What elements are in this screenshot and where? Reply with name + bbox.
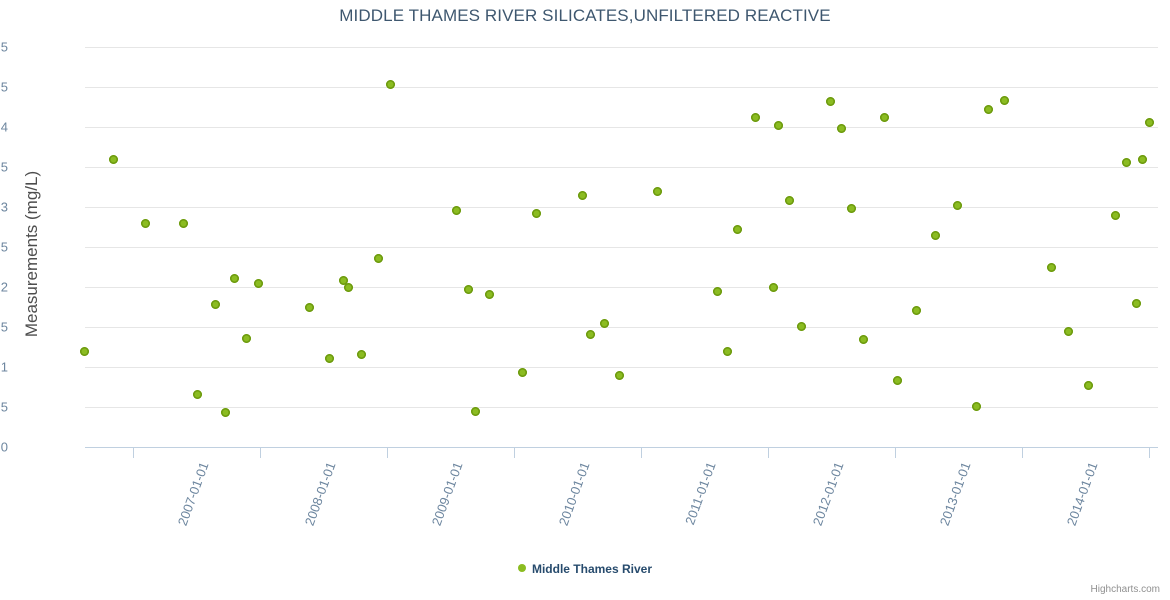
y-tick-label: 4 — [0, 120, 8, 135]
scatter-point[interactable] — [972, 402, 981, 411]
x-tick-mark — [768, 448, 769, 458]
scatter-point[interactable] — [984, 105, 993, 114]
y-tick-label: 2 — [0, 280, 8, 295]
scatter-point[interactable] — [374, 254, 383, 263]
highcharts-scatter-chart: MIDDLE THAMES RIVER SILICATES,UNFILTERED… — [0, 0, 1170, 600]
scatter-point[interactable] — [1145, 118, 1154, 127]
scatter-point[interactable] — [797, 322, 806, 331]
y-tick-label: 3.5 — [0, 160, 8, 175]
scatter-point[interactable] — [751, 113, 760, 122]
scatter-point[interactable] — [109, 155, 118, 164]
scatter-point[interactable] — [242, 334, 251, 343]
scatter-point[interactable] — [518, 368, 527, 377]
credits-label[interactable]: Highcharts.com — [1091, 584, 1160, 595]
scatter-point[interactable] — [859, 335, 868, 344]
y-tick-label: 4.5 — [0, 80, 8, 95]
scatter-point[interactable] — [179, 219, 188, 228]
x-tick-mark — [1149, 448, 1150, 458]
legend-item-middle-thames-river[interactable]: Middle Thames River — [532, 562, 652, 576]
scatter-point[interactable] — [1047, 263, 1056, 272]
scatter-point[interactable] — [774, 121, 783, 130]
scatter-point[interactable] — [912, 306, 921, 315]
scatter-point[interactable] — [847, 204, 856, 213]
x-tick-mark — [895, 448, 896, 458]
scatter-point[interactable] — [471, 407, 480, 416]
scatter-point[interactable] — [305, 303, 314, 312]
scatter-point[interactable] — [193, 390, 202, 399]
y-gridline — [85, 207, 1158, 208]
scatter-point[interactable] — [723, 347, 732, 356]
plot-area — [0, 0, 1170, 600]
x-tick-mark — [133, 448, 134, 458]
scatter-point[interactable] — [325, 354, 334, 363]
scatter-point[interactable] — [485, 290, 494, 299]
scatter-point[interactable] — [769, 283, 778, 292]
y-tick-label: 0.5 — [0, 400, 8, 415]
x-tick-mark — [1022, 448, 1023, 458]
scatter-point[interactable] — [600, 319, 609, 328]
scatter-point[interactable] — [344, 283, 353, 292]
scatter-point[interactable] — [464, 285, 473, 294]
scatter-point[interactable] — [452, 206, 461, 215]
scatter-point[interactable] — [1064, 327, 1073, 336]
legend: Middle Thames River — [0, 562, 1170, 576]
y-gridline — [85, 87, 1158, 88]
y-gridline — [85, 247, 1158, 248]
scatter-point[interactable] — [713, 287, 722, 296]
scatter-point[interactable] — [1132, 299, 1141, 308]
x-axis-line — [85, 447, 1158, 448]
scatter-point[interactable] — [931, 231, 940, 240]
scatter-point[interactable] — [1000, 96, 1009, 105]
y-gridline — [85, 287, 1158, 288]
x-tick-mark — [260, 448, 261, 458]
y-tick-label: 1.5 — [0, 320, 8, 335]
scatter-point[interactable] — [615, 371, 624, 380]
scatter-point[interactable] — [357, 350, 366, 359]
scatter-point[interactable] — [880, 113, 889, 122]
y-tick-label: 5 — [0, 40, 8, 55]
x-tick-mark — [387, 448, 388, 458]
scatter-point[interactable] — [1138, 155, 1147, 164]
y-gridline — [85, 407, 1158, 408]
scatter-point[interactable] — [1084, 381, 1093, 390]
scatter-point[interactable] — [653, 187, 662, 196]
scatter-point[interactable] — [586, 330, 595, 339]
y-gridline — [85, 127, 1158, 128]
y-tick-label: 2.5 — [0, 240, 8, 255]
scatter-point[interactable] — [211, 300, 220, 309]
scatter-point[interactable] — [1111, 211, 1120, 220]
scatter-point[interactable] — [221, 408, 230, 417]
x-tick-mark — [641, 448, 642, 458]
y-gridline — [85, 367, 1158, 368]
y-tick-label: 0 — [0, 440, 8, 455]
scatter-point[interactable] — [785, 196, 794, 205]
scatter-point[interactable] — [1122, 158, 1131, 167]
scatter-point[interactable] — [893, 376, 902, 385]
y-tick-label: 3 — [0, 200, 8, 215]
y-gridline — [85, 47, 1158, 48]
scatter-point[interactable] — [953, 201, 962, 210]
scatter-point[interactable] — [578, 191, 587, 200]
y-gridline — [85, 327, 1158, 328]
legend-marker-icon — [518, 564, 526, 572]
y-tick-label: 1 — [0, 360, 8, 375]
scatter-point[interactable] — [230, 274, 239, 283]
scatter-point[interactable] — [733, 225, 742, 234]
scatter-point[interactable] — [80, 347, 89, 356]
scatter-point[interactable] — [141, 219, 150, 228]
scatter-point[interactable] — [532, 209, 541, 218]
y-gridline — [85, 167, 1158, 168]
scatter-point[interactable] — [837, 124, 846, 133]
x-tick-mark — [514, 448, 515, 458]
scatter-point[interactable] — [826, 97, 835, 106]
